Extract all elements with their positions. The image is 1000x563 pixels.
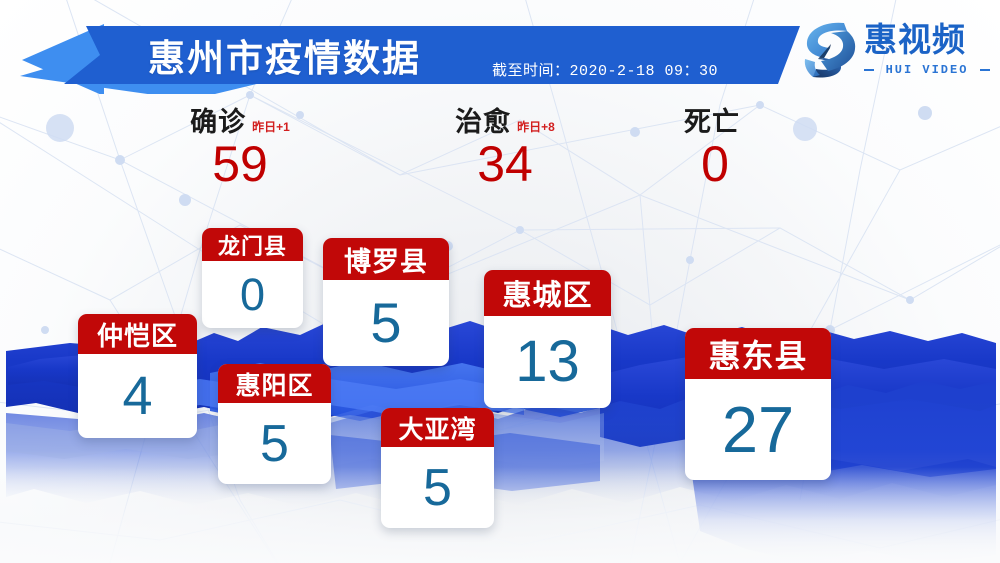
- page-title: 惠州市疫情数据: [148, 40, 421, 77]
- district-card-boluo[interactable]: 博罗县 5: [323, 238, 449, 366]
- logo-name-cn: 惠视频: [864, 20, 990, 60]
- district-card-longmen[interactable]: 龙门县 0: [202, 228, 303, 328]
- district-card-longmen-value: 0: [202, 261, 303, 328]
- stat-deaths-value: 0: [625, 137, 805, 191]
- stat-recovered-value: 34: [415, 137, 595, 191]
- district-card-huiyang[interactable]: 惠阳区 5: [218, 364, 331, 484]
- banner-shape: [0, 16, 880, 94]
- logo-text: 惠视频 HUI VIDEO: [864, 20, 990, 84]
- logo-rule-right: [980, 69, 990, 71]
- header-banner: 惠州市疫情数据 截至时间：2020-2-18 09：30: [0, 16, 880, 84]
- district-card-huidong-value: 27: [685, 379, 831, 480]
- district-card-dayawan-name: 大亚湾: [381, 408, 494, 447]
- district-card-zhongkai[interactable]: 仲恺区 4: [78, 314, 197, 438]
- stat-confirmed-head: 确诊 昨日+1: [150, 100, 330, 139]
- district-card-huiyang-value: 5: [218, 403, 331, 484]
- stat-deaths-label: 死亡: [684, 100, 740, 139]
- district-card-boluo-value: 5: [323, 280, 449, 366]
- district-card-huidong-name: 惠东县: [685, 328, 831, 379]
- infographic-root: 惠州市疫情数据 截至时间：2020-2-18 09：30: [0, 0, 1000, 563]
- stat-confirmed-label: 确诊: [190, 100, 246, 139]
- district-card-zhongkai-name: 仲恺区: [78, 314, 197, 354]
- hui-ribbon-logo-icon: [800, 18, 862, 82]
- brand-logo: 惠视频 HUI VIDEO: [800, 14, 990, 88]
- stat-recovered-head: 治愈 昨日+8: [415, 100, 595, 139]
- district-card-zhongkai-value: 4: [78, 354, 197, 438]
- logo-name-en: HUI VIDEO: [878, 63, 976, 77]
- stat-recovered-label: 治愈: [455, 100, 511, 139]
- stat-recovered-delta: 昨日+8: [517, 118, 555, 135]
- district-card-longmen-name: 龙门县: [202, 228, 303, 261]
- asof-time: 截至时间：2020-2-18 09：30: [492, 59, 718, 80]
- stat-confirmed-delta: 昨日+1: [252, 118, 290, 135]
- district-card-huicheng[interactable]: 惠城区 13: [484, 270, 611, 408]
- stat-deaths: 死亡 0: [625, 100, 805, 191]
- district-card-huicheng-name: 惠城区: [484, 270, 611, 316]
- district-card-huicheng-value: 13: [484, 316, 611, 408]
- district-card-huidong[interactable]: 惠东县 27: [685, 328, 831, 480]
- district-card-huiyang-name: 惠阳区: [218, 364, 331, 403]
- stat-recovered: 治愈 昨日+8 34: [415, 100, 595, 191]
- logo-en-row: HUI VIDEO: [864, 62, 990, 78]
- summary-stats: 确诊 昨日+1 59 治愈 昨日+8 34 死亡 0: [0, 100, 1000, 190]
- stat-confirmed-value: 59: [150, 137, 330, 191]
- stat-deaths-head: 死亡: [625, 100, 805, 139]
- stat-confirmed: 确诊 昨日+1 59: [150, 100, 330, 191]
- logo-rule-left: [864, 69, 874, 71]
- district-card-dayawan[interactable]: 大亚湾 5: [381, 408, 494, 528]
- district-card-boluo-name: 博罗县: [323, 238, 449, 280]
- district-card-dayawan-value: 5: [381, 447, 494, 528]
